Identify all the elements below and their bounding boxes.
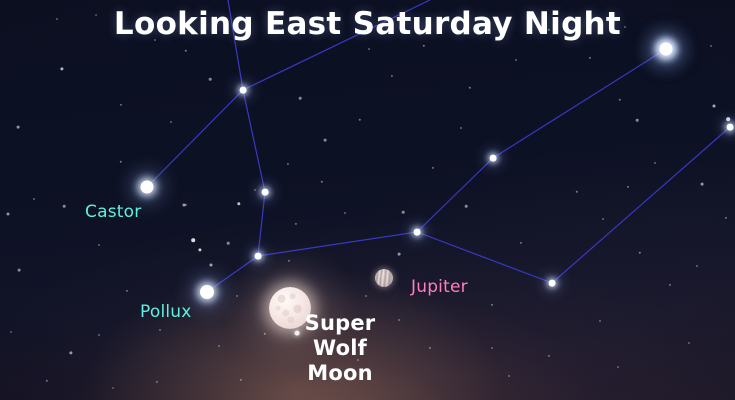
moon-label-line-3: Moon [305, 361, 376, 386]
label-layer: Looking East Saturday Night Castor Pollu… [0, 0, 735, 400]
label-jupiter: Jupiter [411, 277, 468, 297]
label-castor: Castor [85, 202, 141, 222]
moon-label-line-1: Super [305, 311, 376, 336]
moon-label-line-2: Wolf [305, 336, 376, 361]
sky-chart: Looking East Saturday Night Castor Pollu… [0, 0, 735, 400]
chart-title: Looking East Saturday Night [0, 6, 735, 42]
label-pollux: Pollux [140, 302, 192, 322]
label-super-wolf-moon: Super Wolf Moon [305, 311, 376, 386]
